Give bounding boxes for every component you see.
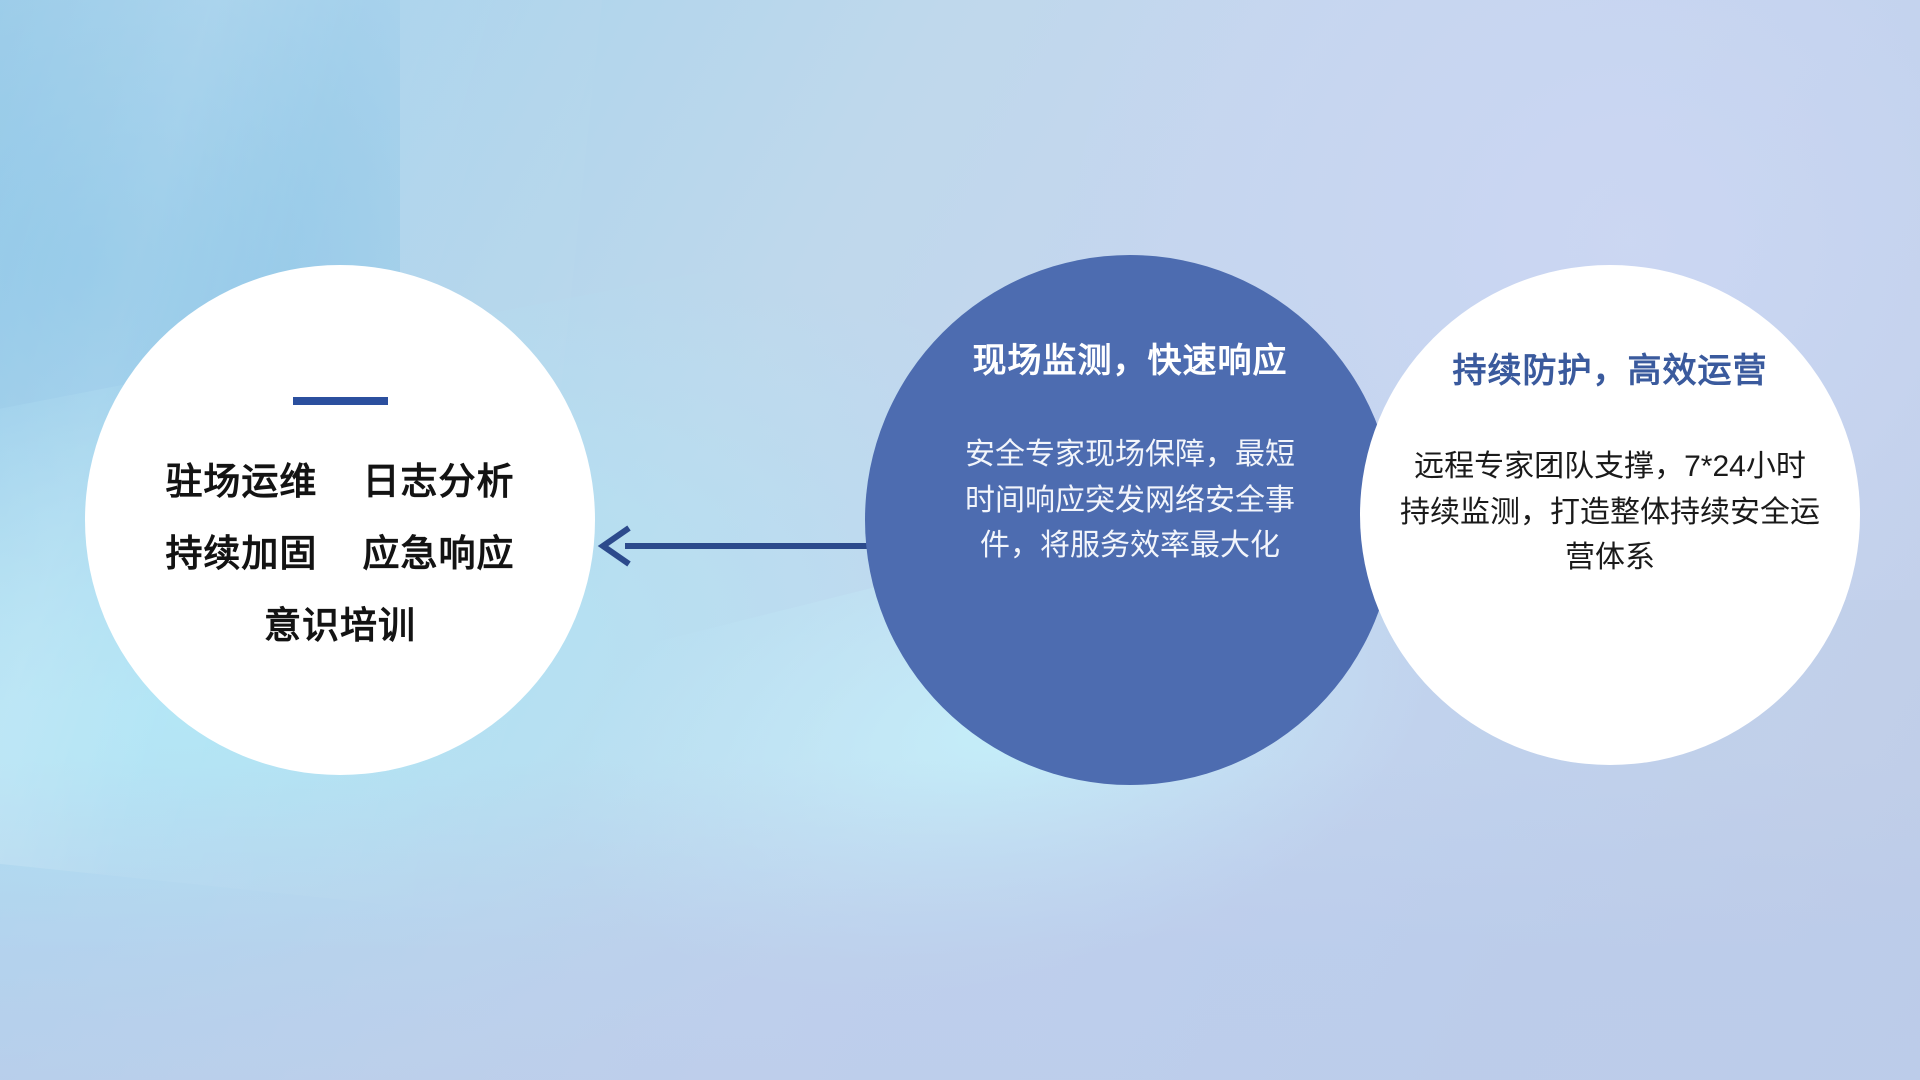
capability-circle-left[interactable]: 驻场运维 日志分析 持续加固 应急响应 意识培训 bbox=[85, 265, 595, 775]
service-circle-right-title: 持续防护，高效运营 bbox=[1453, 343, 1768, 392]
service-circle-middle[interactable]: 现场监测，快速响应 安全专家现场保障，最短时间响应突发网络安全事件，将服务效率最… bbox=[865, 255, 1395, 785]
capability-line-2: 持续加固 应急响应 bbox=[165, 535, 514, 572]
service-circle-middle-body: 安全专家现场保障，最短时间响应突发网络安全事件，将服务效率最大化 bbox=[965, 432, 1295, 569]
capability-line-1: 驻场运维 日志分析 bbox=[165, 463, 514, 500]
service-circle-middle-title: 现场监测，快速响应 bbox=[973, 333, 1288, 382]
blue-dash-divider-icon bbox=[293, 397, 388, 405]
service-circle-right-body: 远程专家团队支撑，7*24小时持续监测，打造整体持续安全运营体系 bbox=[1400, 444, 1820, 581]
service-circle-right[interactable]: 持续防护，高效运营 远程专家团队支撑，7*24小时持续监测，打造整体持续安全运营… bbox=[1360, 265, 1860, 765]
arrow-left-icon bbox=[595, 515, 870, 582]
capability-list: 驻场运维 日志分析 持续加固 应急响应 意识培训 bbox=[165, 463, 514, 644]
capability-line-3: 意识培训 bbox=[165, 607, 514, 644]
